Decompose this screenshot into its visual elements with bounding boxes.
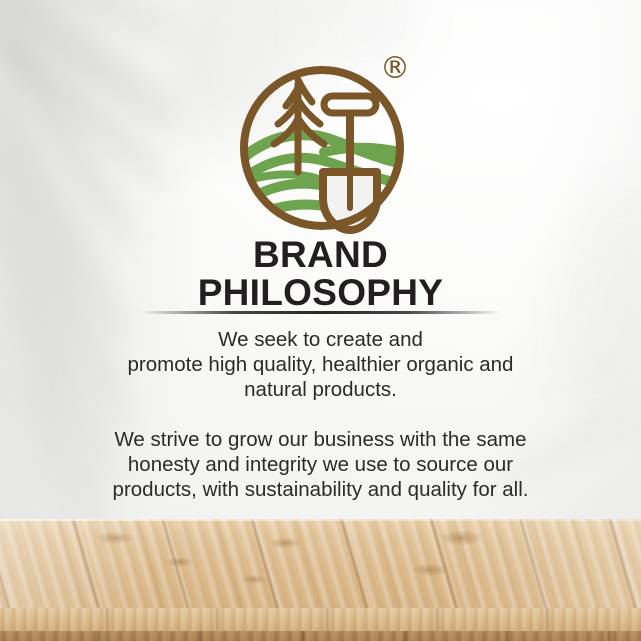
table-front-highlight xyxy=(0,519,641,521)
wooden-table-surface xyxy=(0,519,641,641)
table-front-edge xyxy=(0,608,641,631)
table-under-shadow xyxy=(0,631,641,641)
page-title-line2: PHILOSOPHY xyxy=(0,274,641,312)
paragraph1-line3: natural products. xyxy=(20,377,621,402)
title-divider xyxy=(140,311,501,314)
paragraph1-line2: promote high quality, healthier organic … xyxy=(20,352,621,377)
paragraph-gap xyxy=(20,402,621,427)
paragraph2-line3: products, with sustainability and qualit… xyxy=(20,477,621,502)
edge-grain-texture xyxy=(0,608,641,631)
philosophy-copy: We seek to create and promote high quali… xyxy=(20,327,621,502)
under-grain-texture xyxy=(0,631,641,641)
registered-trademark-icon: ® xyxy=(380,55,408,83)
paragraph2-line1: We strive to grow our business with the … xyxy=(20,427,621,452)
paragraph2-line2: honesty and integrity we use to source o… xyxy=(20,452,621,477)
table-sheen xyxy=(0,519,641,608)
page-title-line1: BRAND xyxy=(253,234,388,275)
page-title: BRAND PHILOSOPHY xyxy=(0,236,641,312)
brand-logo: ® xyxy=(228,48,418,238)
brand-philosophy-poster: ® BRAND PHILOSOPHY We seek to create and… xyxy=(0,0,641,641)
paragraph1-line1: We seek to create and xyxy=(20,327,621,352)
table-top-planks xyxy=(0,519,641,608)
